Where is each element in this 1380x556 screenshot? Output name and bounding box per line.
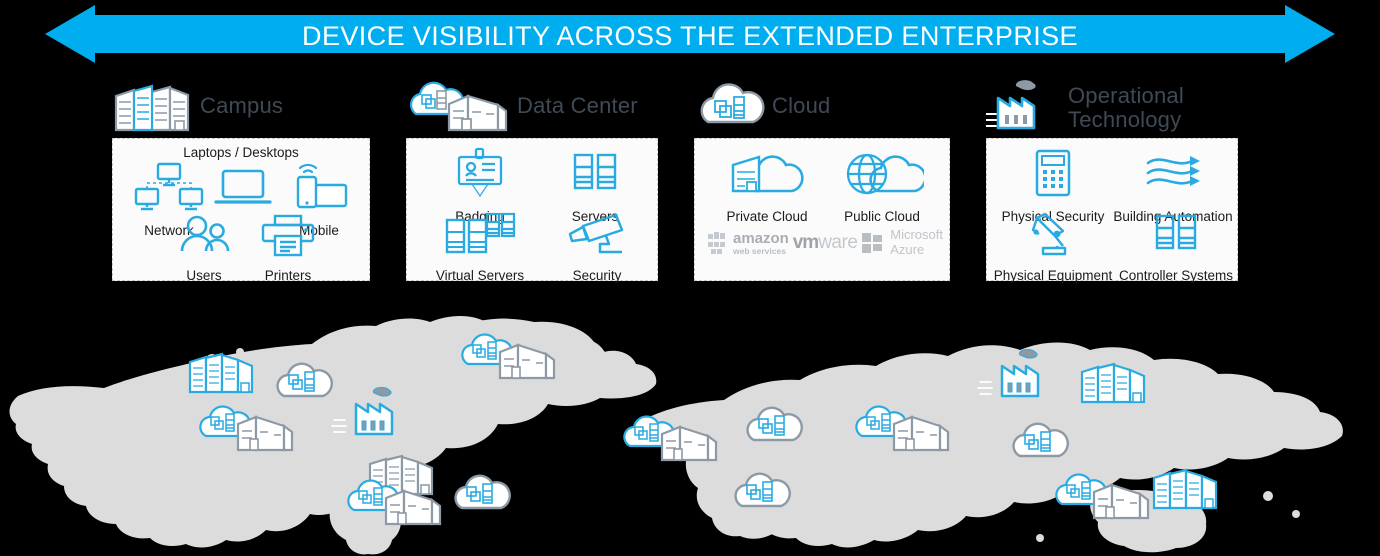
aws-logo-line2: web services <box>733 247 789 256</box>
ot-item-controller-systems-label: Controller Systems <box>1119 268 1233 284</box>
map-marker <box>190 354 252 392</box>
vmware-logo: vm ware <box>793 232 858 254</box>
azure-logo: Microsoft Azure <box>861 228 943 258</box>
map-marker <box>1154 470 1216 508</box>
campus-title: Campus <box>194 78 283 118</box>
cloud-servers-icon <box>694 78 766 139</box>
map-marker <box>1082 364 1144 402</box>
cloud-vendor-logos: amazon web services vm ware <box>707 223 943 263</box>
ot-item-physical-equipment-label: Physical Equipment <box>994 268 1113 284</box>
map-marker <box>748 408 802 440</box>
ot-item-physical-equipment[interactable]: Physical Equipment <box>983 212 1123 284</box>
world-map <box>0 300 1380 556</box>
cloud-datacenter-building-icon <box>406 78 511 139</box>
cloud-item-private[interactable]: Private Cloud <box>711 147 823 225</box>
server-rack-icon <box>569 147 621 204</box>
windows-logo-icon <box>861 231 885 255</box>
campus-item-users-label: Users <box>186 268 221 284</box>
vmware-logo-line1: vm <box>793 232 818 254</box>
public-cloud-globe-icon <box>840 147 924 204</box>
printer-icon <box>259 214 317 263</box>
map-marker <box>456 476 510 508</box>
dc-item-security[interactable]: Security <box>547 212 647 284</box>
category-operational-technology: Operational Technology <box>986 78 1238 281</box>
campus-item-printers-label: Printers <box>265 268 312 284</box>
page-title: DEVICE VISIBILITY ACROSS THE EXTENDED EN… <box>0 0 1380 72</box>
id-badge-icon <box>450 147 510 204</box>
category-cloud: Cloud <box>694 78 950 281</box>
cloud-header: Cloud <box>694 78 950 138</box>
category-campus: Campus Laptops / Desktops <box>112 78 370 281</box>
campus-panel: Laptops / Desktops <box>112 138 370 281</box>
map-marker <box>278 364 332 396</box>
map-marker <box>856 407 948 450</box>
vmware-logo-line2: ware <box>818 232 857 254</box>
map-marker <box>200 407 292 450</box>
map-marker <box>1014 424 1068 456</box>
cloud-panel: Private Cloud Publi <box>694 138 950 281</box>
map-marker <box>624 417 716 460</box>
header-banner: DEVICE VISIBILITY ACROSS THE EXTENDED EN… <box>0 0 1380 72</box>
map-marker <box>736 474 790 506</box>
map-marker <box>1056 475 1148 518</box>
campus-item-users[interactable]: Users <box>158 214 250 284</box>
keypad-icon <box>1030 147 1076 204</box>
network-monitors-icon <box>133 161 205 218</box>
azure-logo-line2: Azure <box>890 243 943 258</box>
category-row: Campus Laptops / Desktops <box>0 78 1380 300</box>
ot-item-controller-systems[interactable]: Controller Systems <box>1113 212 1239 284</box>
campus-item-printers[interactable]: Printers <box>240 214 336 284</box>
data-center-header: Data Center <box>406 78 658 138</box>
category-data-center: Data Center <box>406 78 658 281</box>
aws-cloud-mark <box>707 230 731 256</box>
map-marker <box>978 349 1038 396</box>
robot-arm-icon <box>1023 212 1083 263</box>
factory-icon <box>986 78 1062 145</box>
aws-logo-line1: amazon <box>733 231 789 246</box>
ot-title: Operational Technology <box>1062 78 1184 132</box>
controller-rack-icon <box>1150 212 1202 263</box>
ot-panel: Physical Security <box>986 138 1238 281</box>
dc-item-virtual-servers-label: Virtual Servers <box>436 268 524 284</box>
map-markers <box>0 300 1380 556</box>
mobile-devices-icon <box>286 159 352 218</box>
cloud-item-public[interactable]: Public Cloud <box>827 147 937 225</box>
map-marker <box>462 335 554 378</box>
private-cloud-icon <box>725 147 809 204</box>
laptop-icon <box>212 165 274 214</box>
map-marker <box>332 387 392 434</box>
data-center-panel: Badging Servers <box>406 138 658 281</box>
ot-header: Operational Technology <box>986 78 1238 138</box>
users-icon <box>173 214 235 263</box>
dc-item-virtual-servers[interactable]: Virtual Servers <box>417 212 543 284</box>
cloud-title: Cloud <box>766 78 830 118</box>
azure-logo-line1: Microsoft <box>890 228 943 243</box>
slide-canvas: DEVICE VISIBILITY ACROSS THE EXTENDED EN… <box>0 0 1380 556</box>
virtual-servers-icon <box>443 212 517 263</box>
laptop-cell <box>207 165 279 214</box>
security-camera-icon <box>566 212 628 263</box>
dc-item-security-label: Security <box>573 268 622 284</box>
aws-logo: amazon web services <box>707 230 789 256</box>
office-towers-icon <box>112 78 194 139</box>
data-center-title: Data Center <box>511 78 638 118</box>
airflow-icon <box>1142 147 1204 204</box>
campus-header: Campus <box>112 78 370 138</box>
